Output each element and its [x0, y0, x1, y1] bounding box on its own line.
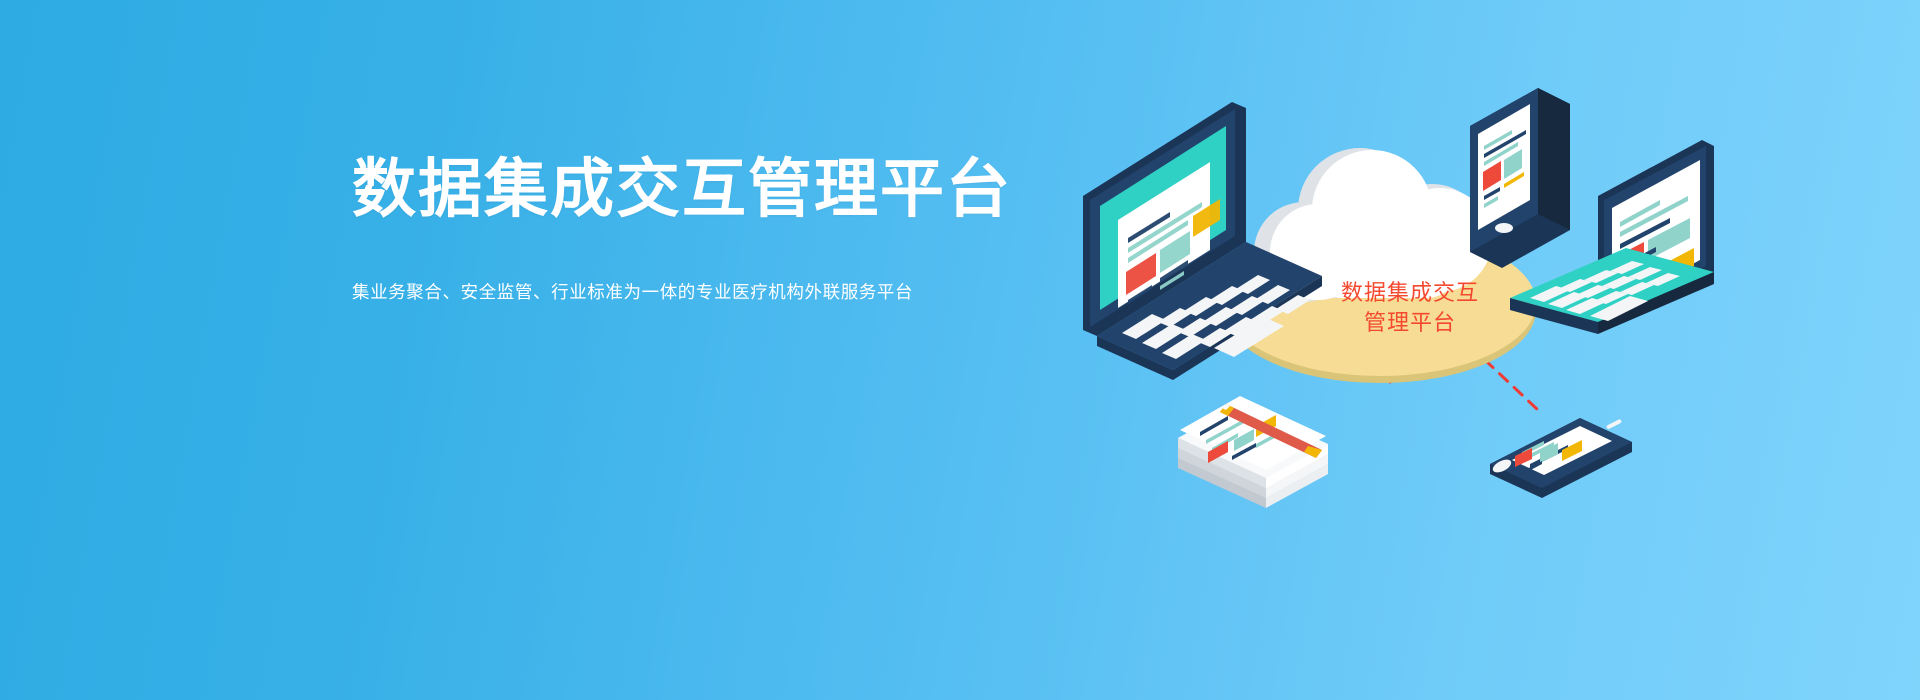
page-subtitle: 集业务聚合、安全监管、行业标准为一体的专业医疗机构外联服务平台: [352, 279, 1012, 305]
hero-banner: 数据集成交互管理平台 集业务聚合、安全监管、行业标准为一体的专业医疗机构外联服务…: [0, 0, 1920, 700]
document-stack: [1178, 396, 1328, 508]
device-smartphone: [1490, 418, 1632, 498]
hero-illustration: [1060, 60, 1880, 620]
device-tablet: [1470, 88, 1570, 268]
page-title: 数据集成交互管理平台: [352, 148, 1012, 231]
hero-text-block: 数据集成交互管理平台 集业务聚合、安全监管、行业标准为一体的专业医疗机构外联服务…: [352, 148, 1012, 305]
